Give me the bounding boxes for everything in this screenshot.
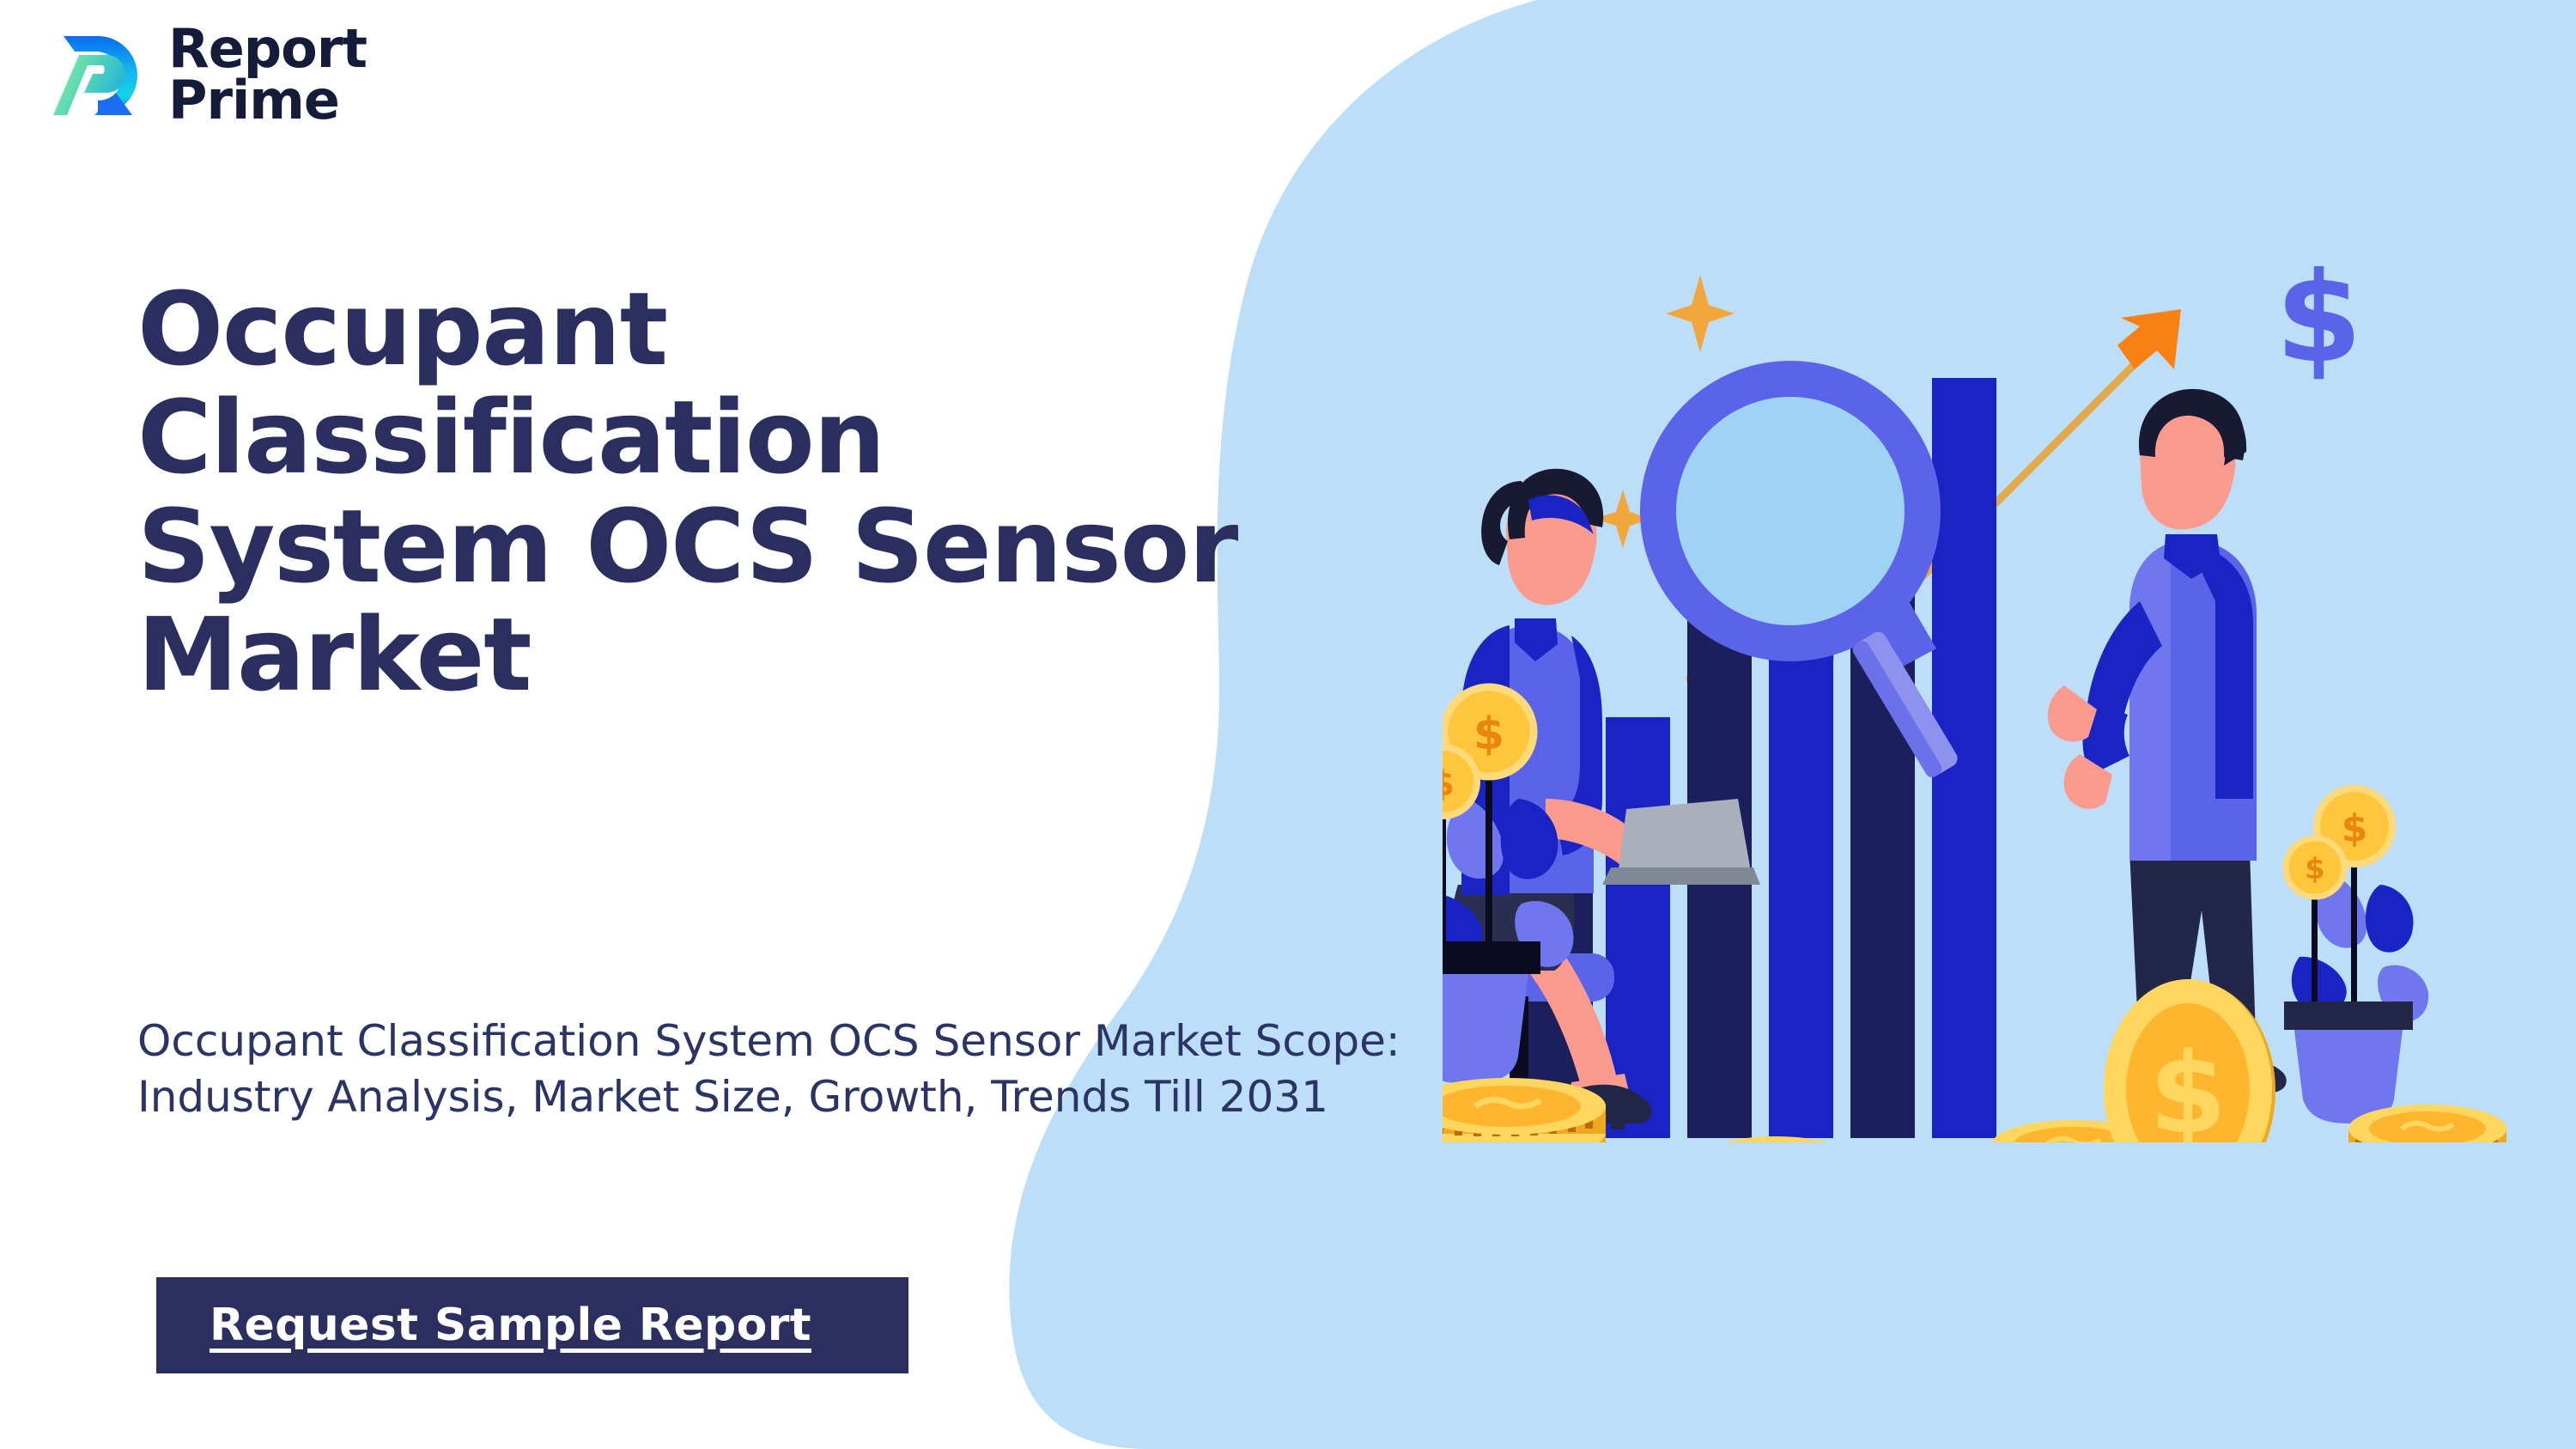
hero-banner: Report Prime Occupant Classification Sys…: [0, 0, 2576, 1449]
brand-logo[interactable]: Report Prime: [34, 19, 367, 131]
sparkle-icon: [1666, 275, 1735, 352]
growth-arrow-icon: [2117, 309, 2181, 369]
report-prime-logo-mark-icon: [34, 19, 146, 131]
svg-text:$: $: [1473, 709, 1504, 760]
dollar-symbol-icon: $: [2275, 246, 2362, 391]
request-sample-report-button[interactable]: Request Sample Report: [156, 1277, 908, 1373]
brand-wordmark: Report Prime: [168, 23, 367, 125]
coin-stack-3: $: [1992, 979, 2275, 1142]
laptop-icon: [1618, 799, 1752, 876]
svg-text:$: $: [2305, 852, 2325, 886]
svg-text:$: $: [2342, 807, 2368, 850]
market-analysis-illustration: $ $: [1443, 198, 2559, 1142]
money-plant-right-icon: $ $: [2284, 788, 2428, 1123]
svg-text:$: $: [2149, 1028, 2227, 1142]
page-subtitle: Occupant Classification System OCS Senso…: [137, 1014, 1563, 1125]
request-sample-report-label: Request Sample Report: [210, 1300, 811, 1351]
brand-name-line1: Report: [168, 23, 367, 75]
page-title: Occupant Classification System OCS Senso…: [137, 275, 1279, 709]
brand-name-line2: Prime: [168, 75, 367, 126]
svg-text:$: $: [1443, 764, 1455, 804]
